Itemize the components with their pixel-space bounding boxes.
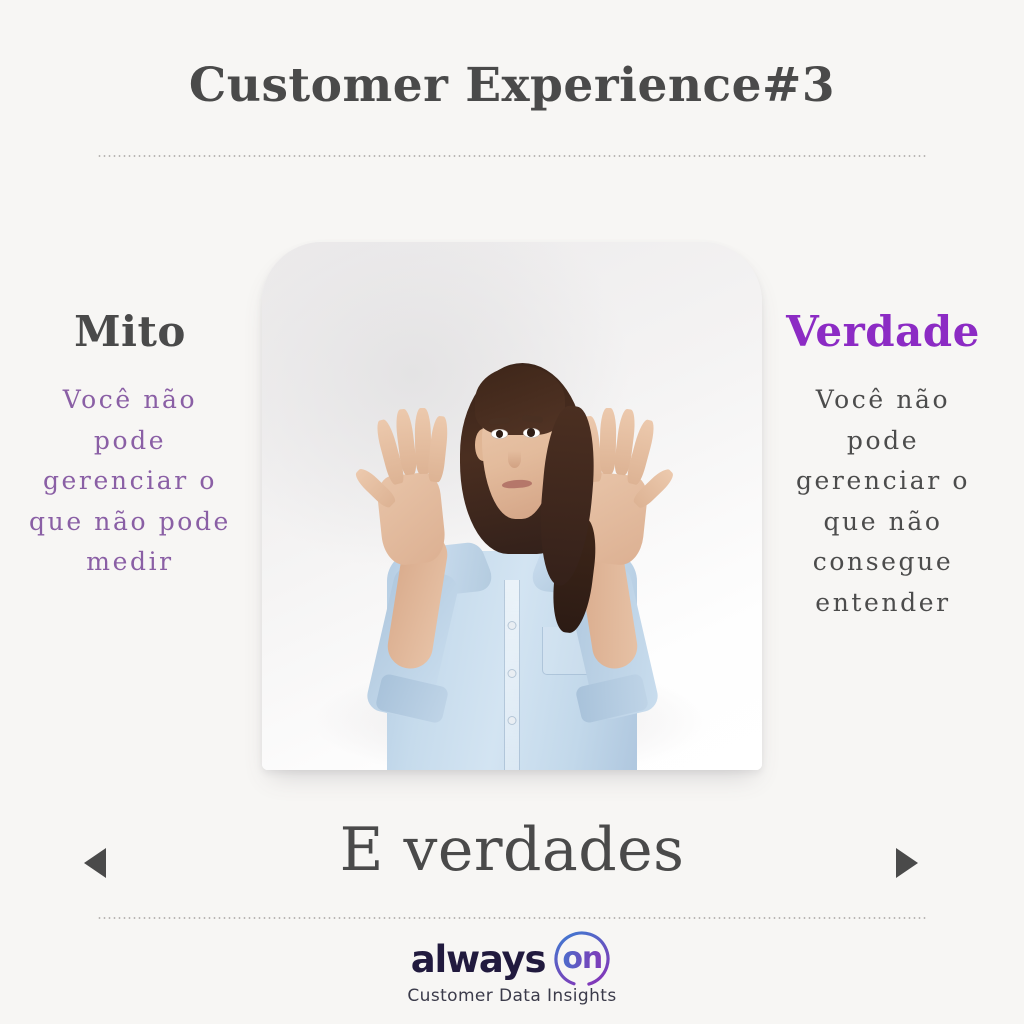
column-mito-body: Você não pode gerenciar o que não pode m… [22,380,238,583]
brand-tagline: Customer Data Insights [0,986,1024,1006]
column-mito-heading: Mito [22,310,238,354]
photo-subject [262,242,762,770]
footer: always on Customer Data Insights [0,936,1024,1006]
subject-hair-top [475,366,565,435]
subject-finger [599,408,616,474]
subject-shirt-button [509,622,516,629]
column-verdade-heading: Verdade [775,310,991,354]
subject-pupil-right [527,428,535,436]
slide-caption: E verdades [0,815,1024,885]
subject-shirt-button [509,717,516,724]
brand-logo-on-ring: on [551,930,613,988]
divider-top [97,155,927,157]
subject-nose [508,451,521,469]
subject-shirt-button [509,670,516,677]
subject-palm-left [375,471,447,567]
photo-card [262,242,762,770]
divider-bottom [97,917,927,919]
column-mito: Mito Você não pode gerenciar o que não p… [22,310,238,583]
brand-logo-on-text: on [551,930,613,988]
column-verdade: Verdade Você não pode gerenciar o que nã… [775,310,991,623]
triangle-left-icon[interactable] [84,848,106,878]
page-title: Customer Experience#3 [0,58,1024,113]
triangle-right-icon[interactable] [896,848,918,878]
brand-logo: always on [411,936,614,982]
column-verdade-body: Você não pode gerenciar o que não conseg… [775,380,991,623]
brand-logo-always: always [411,941,546,978]
slide-root: Customer Experience#3 Mito Você não pode… [0,0,1024,1024]
photo-woman-shrugging [262,242,762,770]
